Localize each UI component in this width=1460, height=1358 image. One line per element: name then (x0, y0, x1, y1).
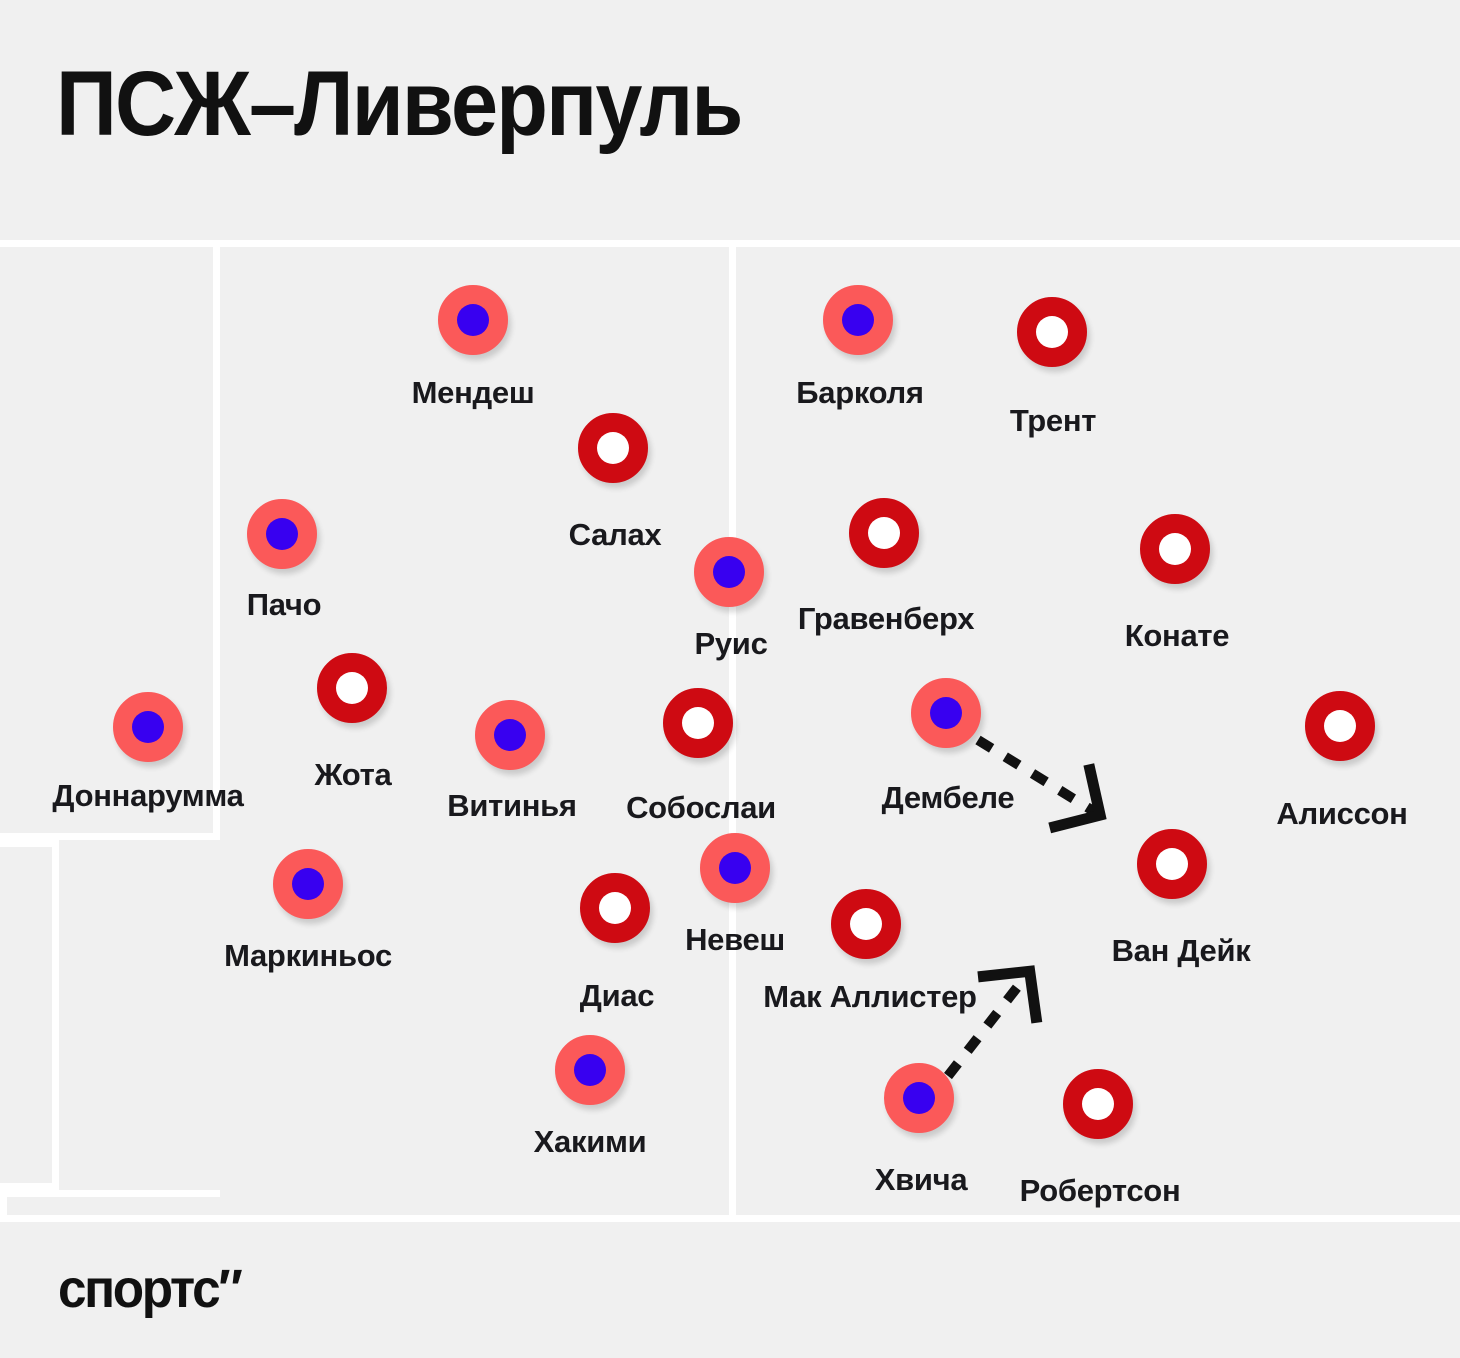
marker-core-icon (1036, 316, 1068, 348)
player-marker-liverpool[interactable] (1017, 297, 1087, 367)
player-marker-psg[interactable] (555, 1035, 625, 1105)
page-title: ПСЖ–Ливерпуль (56, 56, 742, 153)
marker-core-icon (597, 432, 629, 464)
player-label: Мак Аллистер (763, 979, 976, 1015)
marker-core-icon (719, 852, 751, 884)
player-label: Конате (1125, 618, 1229, 654)
player-label: Хвича (875, 1162, 968, 1198)
player-label: Дембеле (882, 780, 1015, 816)
marker-core-icon (930, 697, 962, 729)
arrow-head-icon (978, 971, 1037, 1023)
player-marker-psg[interactable] (700, 833, 770, 903)
marker-core-icon (842, 304, 874, 336)
player-label: Ван Дейк (1112, 933, 1251, 969)
player-label: Гравенберх (798, 601, 974, 637)
player-marker-liverpool[interactable] (317, 653, 387, 723)
marker-core-icon (494, 719, 526, 751)
marker-core-icon (132, 711, 164, 743)
marker-core-icon (850, 908, 882, 940)
player-marker-liverpool[interactable] (1137, 829, 1207, 899)
marker-core-icon (1156, 848, 1188, 880)
player-marker-liverpool[interactable] (663, 688, 733, 758)
marker-core-icon (903, 1082, 935, 1114)
player-label: Мендеш (412, 375, 535, 411)
marker-core-icon (266, 518, 298, 550)
tactics-infographic: ПСЖ–Ливерпуль ДоннаруммаПачоМаркиньосМен… (0, 0, 1460, 1358)
marker-core-icon (1082, 1088, 1114, 1120)
player-label: Витинья (447, 788, 576, 824)
arrow-head-icon (1050, 764, 1100, 828)
player-label: Робертсон (1020, 1173, 1181, 1209)
player-label: Жота (315, 757, 392, 793)
footer: спортс″ (0, 1222, 1460, 1358)
player-marker-psg[interactable] (694, 537, 764, 607)
player-marker-liverpool[interactable] (849, 498, 919, 568)
marker-core-icon (292, 868, 324, 900)
player-marker-liverpool[interactable] (578, 413, 648, 483)
player-label: Хакими (534, 1124, 647, 1160)
marker-core-icon (336, 672, 368, 704)
player-label: Невеш (685, 922, 785, 958)
marker-core-icon (868, 517, 900, 549)
marker-core-icon (1324, 710, 1356, 742)
player-marker-liverpool[interactable] (831, 889, 901, 959)
player-marker-psg[interactable] (273, 849, 343, 919)
marker-core-icon (1159, 533, 1191, 565)
player-marker-psg[interactable] (884, 1063, 954, 1133)
marker-core-icon (682, 707, 714, 739)
player-marker-psg[interactable] (823, 285, 893, 355)
player-label: Алиссон (1276, 796, 1407, 832)
player-marker-liverpool[interactable] (1140, 514, 1210, 584)
player-label: Пачо (247, 587, 321, 623)
marker-core-icon (599, 892, 631, 924)
player-label: Салах (569, 517, 662, 553)
header: ПСЖ–Ливерпуль (0, 0, 1460, 240)
player-label: Доннарумма (52, 778, 243, 814)
player-label: Руис (694, 626, 767, 662)
player-marker-liverpool[interactable] (1305, 691, 1375, 761)
left-goal-area (0, 840, 59, 1190)
left-penalty-area (0, 240, 220, 840)
player-marker-psg[interactable] (113, 692, 183, 762)
sports-logo[interactable]: спортс″ (58, 1258, 240, 1320)
player-marker-psg[interactable] (475, 700, 545, 770)
marker-core-icon (713, 556, 745, 588)
player-label: Диас (580, 978, 654, 1014)
player-label: Трент (1010, 403, 1096, 439)
player-label: Барколя (796, 375, 923, 411)
marker-core-icon (574, 1054, 606, 1086)
marker-core-icon (457, 304, 489, 336)
football-pitch: ДоннаруммаПачоМаркиньосМендешХакимиВитин… (0, 240, 1460, 1222)
player-label: Маркиньос (224, 938, 392, 974)
player-marker-liverpool[interactable] (580, 873, 650, 943)
player-label: Собослаи (626, 790, 776, 826)
player-marker-psg[interactable] (911, 678, 981, 748)
player-marker-liverpool[interactable] (1063, 1069, 1133, 1139)
player-marker-psg[interactable] (247, 499, 317, 569)
player-marker-psg[interactable] (438, 285, 508, 355)
